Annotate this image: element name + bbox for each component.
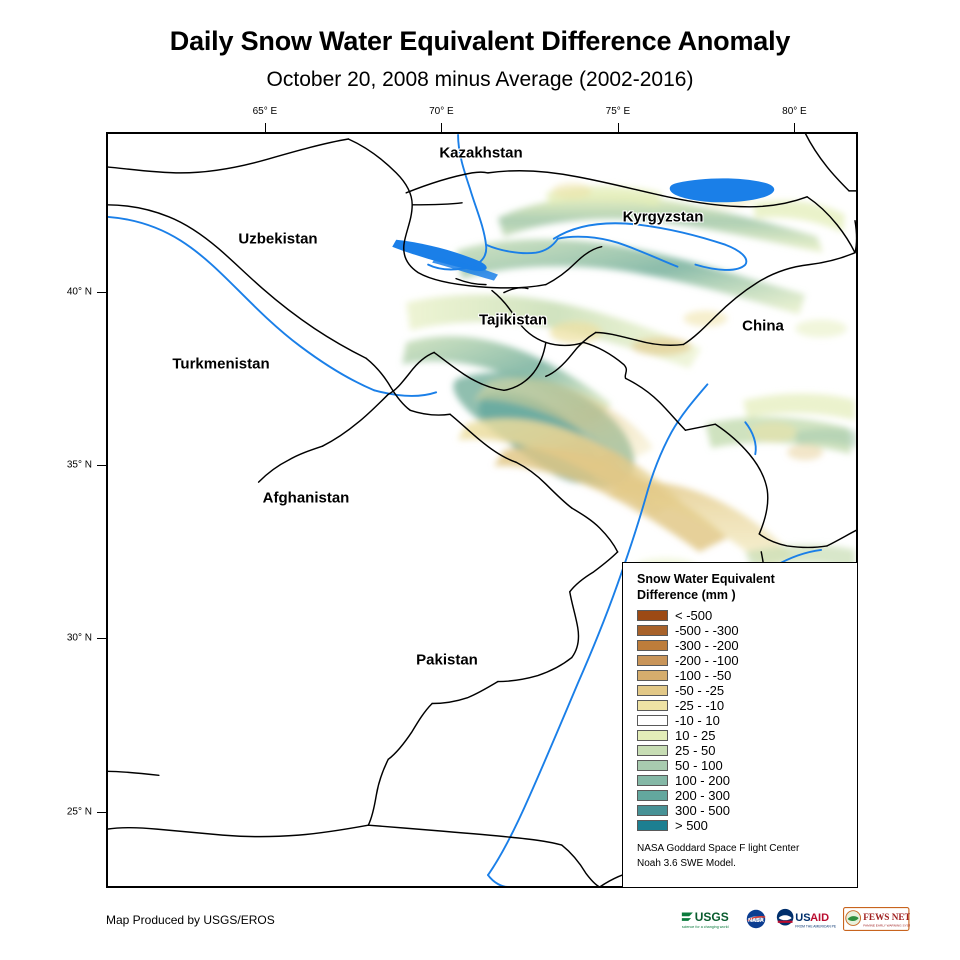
country-label-china: China [742,318,784,335]
country-label-pakistan: Pakistan [416,652,478,669]
footer-credit: Map Produced by USGS/EROS [106,913,275,927]
legend-swatch [637,610,668,621]
agency-logo-row: USGS science for a changing world NASA U… [680,906,910,932]
legend-label: 100 - 200 [675,774,730,787]
legend-row: < -500 [637,608,857,623]
lat-tick-label: 30° N [48,633,92,644]
legend-row: 25 - 50 [637,743,857,758]
legend-swatch [637,715,668,726]
lon-tick [441,123,442,132]
legend-label: -200 - -100 [675,654,739,667]
legend-row: -200 - -100 [637,653,857,668]
lon-tick-label: 80° E [782,106,807,117]
legend-label: -100 - -50 [675,669,731,682]
nasa-logo: NASA [744,907,768,931]
map-legend: Snow Water Equivalent Difference (mm ) <… [622,562,858,888]
usgs-logo: USGS science for a changing world [680,907,737,931]
legend-label: 50 - 100 [675,759,723,772]
legend-credit-line1: NASA Goddard Space F light Center [637,842,857,857]
legend-swatch [637,670,668,681]
legend-swatch [637,790,668,801]
lon-tick-label: 65° E [253,106,278,117]
legend-title: Snow Water Equivalent Difference (mm ) [623,563,857,605]
legend-label: 10 - 25 [675,729,715,742]
country-label-tajikistan: Tajikistan [479,312,547,329]
legend-row: > 500 [637,818,857,833]
legend-swatch [637,775,668,786]
legend-label: 200 - 300 [675,789,730,802]
legend-row: -100 - -50 [637,668,857,683]
lon-tick-label: 75° E [606,106,631,117]
legend-label: > 500 [675,819,708,832]
lat-tick [97,812,106,813]
legend-row: -25 - -10 [637,698,857,713]
legend-row: 10 - 25 [637,728,857,743]
legend-swatch [637,730,668,741]
country-label-uzbekistan: Uzbekistan [238,231,317,248]
svg-text:FAMINE EARLY WARNING SYSTEMS N: FAMINE EARLY WARNING SYSTEMS NETWORK [863,923,909,927]
legend-row: -10 - 10 [637,713,857,728]
legend-row: 300 - 500 [637,803,857,818]
legend-swatch [637,685,668,696]
svg-text:AID: AID [810,912,829,924]
lon-tick [794,123,795,132]
legend-row: -500 - -300 [637,623,857,638]
legend-row: 200 - 300 [637,788,857,803]
legend-swatch [637,625,668,636]
legend-credit-line2: Noah 3.6 SWE Model. [637,857,857,872]
lat-tick [97,465,106,466]
page-subtitle: October 20, 2008 minus Average (2002-201… [0,68,960,92]
lon-tick-label: 70° E [429,106,454,117]
legend-label: -500 - -300 [675,624,739,637]
lon-tick [265,123,266,132]
svg-text:FROM THE AMERICAN PEOPLE: FROM THE AMERICAN PEOPLE [796,924,837,928]
country-label-kazakhstan: Kazakhstan [439,145,522,162]
legend-row: -50 - -25 [637,683,857,698]
legend-label: < -500 [675,609,712,622]
legend-row: -300 - -200 [637,638,857,653]
svg-text:FEWS NET: FEWS NET [863,912,909,922]
legend-swatch [637,820,668,831]
svg-text:USGS: USGS [695,910,729,924]
legend-credit: NASA Goddard Space F light Center Noah 3… [637,842,857,871]
lat-tick [97,292,106,293]
fewsnet-logo: FEWS NET FAMINE EARLY WARNING SYSTEMS NE… [843,907,909,931]
lat-tick-label: 25° N [48,806,92,817]
lat-tick-label: 35° N [48,459,92,470]
svg-text:NASA: NASA [748,918,764,924]
legend-title-line1: Snow Water Equivalent [637,571,857,587]
legend-title-line2: Difference (mm ) [637,587,857,603]
legend-swatch [637,700,668,711]
legend-swatch [637,760,668,771]
svg-text:US: US [796,912,811,924]
legend-label: 300 - 500 [675,804,730,817]
legend-label: -25 - -10 [675,699,724,712]
country-label-turkmenistan: Turkmenistan [172,356,269,373]
usaid-logo: US AID FROM THE AMERICAN PEOPLE [775,907,836,931]
lat-tick [97,638,106,639]
legend-label: -300 - -200 [675,639,739,652]
legend-swatch [637,805,668,816]
legend-label: -10 - 10 [675,714,720,727]
legend-swatch [637,655,668,666]
legend-swatch [637,640,668,651]
country-label-kyrgyzstan: Kyrgyzstan [623,209,704,226]
legend-swatch [637,745,668,756]
lon-tick [618,123,619,132]
legend-label: 25 - 50 [675,744,715,757]
legend-row: 50 - 100 [637,758,857,773]
legend-class-list: < -500-500 - -300-300 - -200-200 - -100-… [637,608,857,833]
country-label-afghanistan: Afghanistan [263,490,350,507]
legend-label: -50 - -25 [675,684,724,697]
lat-tick-label: 40° N [48,286,92,297]
legend-row: 100 - 200 [637,773,857,788]
page-title: Daily Snow Water Equivalent Difference A… [0,26,960,57]
svg-text:science for a changing world: science for a changing world [682,925,729,929]
